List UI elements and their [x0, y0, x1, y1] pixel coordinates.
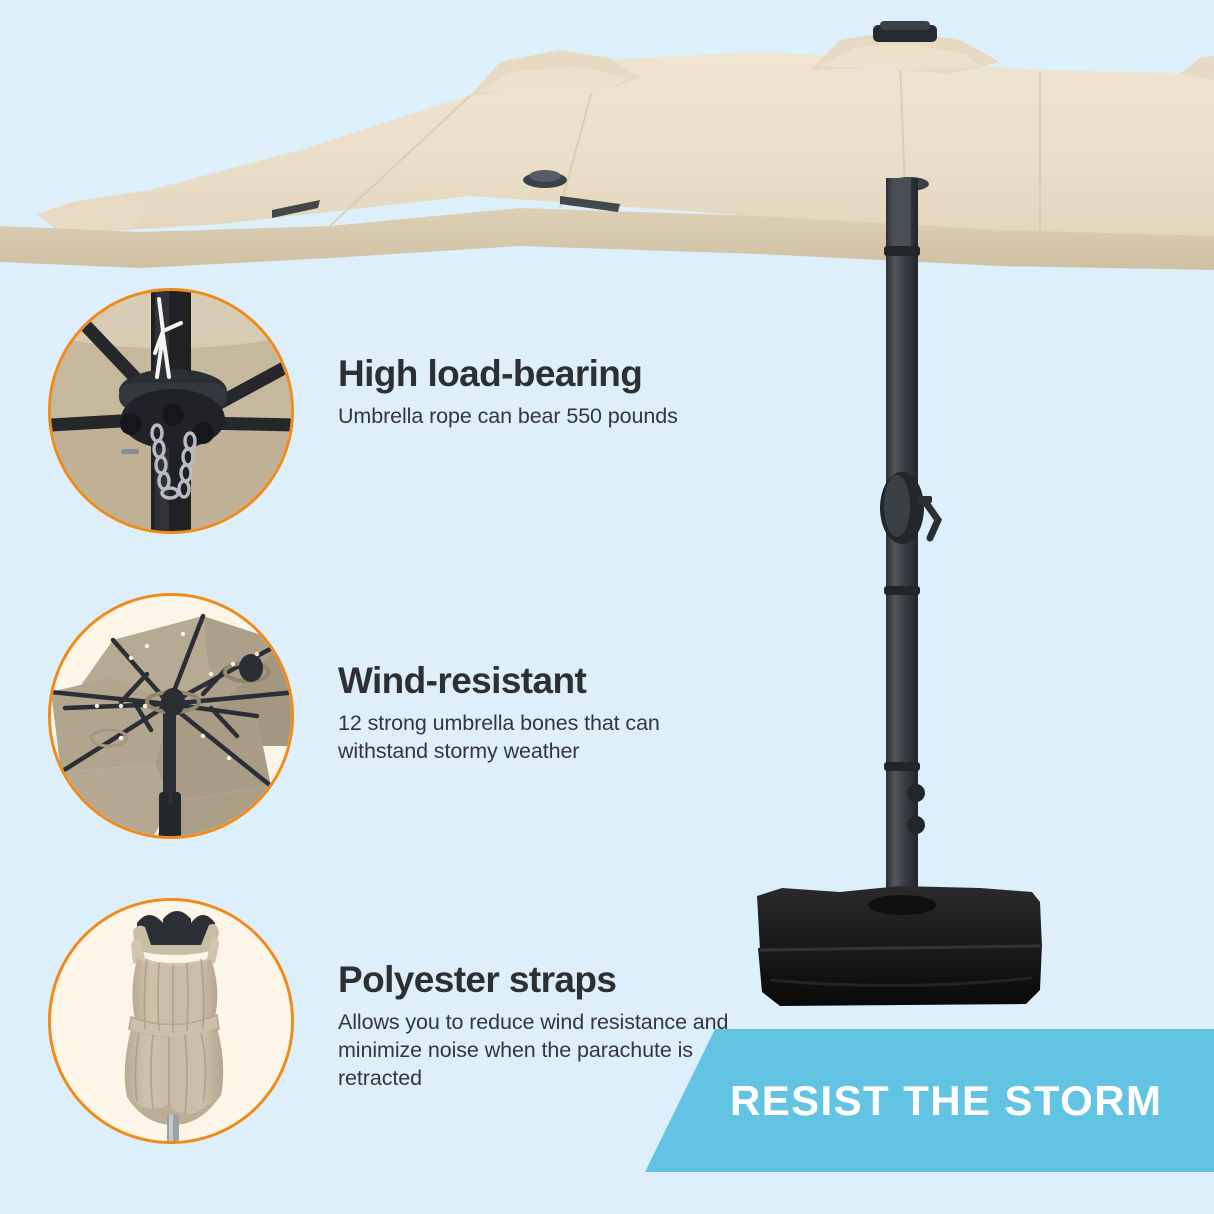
feature-title: Polyester straps — [338, 960, 738, 999]
feature-text-block: High load-bearing Umbrella rope can bear… — [338, 288, 678, 431]
feature-title: Wind-resistant — [338, 661, 738, 700]
umbrella-base — [757, 886, 1042, 1006]
folded-umbrella-straps-photo — [48, 898, 294, 1144]
feature-description: Umbrella rope can bear 550 pounds — [338, 403, 678, 431]
feature-thumbnail-wrap — [48, 593, 300, 845]
solar-light-panel — [873, 21, 937, 42]
umbrella-hub-chain-photo — [48, 288, 294, 534]
feature-thumbnail-wrap — [48, 288, 300, 540]
feature-wind-resistant: Wind-resistant 12 strong umbrella bones … — [48, 593, 738, 845]
feature-title: High load-bearing — [338, 354, 678, 393]
crank-handle — [880, 472, 938, 544]
infographic-poster: High load-bearing Umbrella rope can bear… — [0, 0, 1214, 1214]
umbrella-ribs-underside-photo — [48, 593, 294, 839]
feature-high-load-bearing: High load-bearing Umbrella rope can bear… — [48, 288, 678, 540]
banner-label: RESIST THE STORM — [730, 1029, 1214, 1172]
feature-description: 12 strong umbrella bones that can withst… — [338, 710, 738, 766]
feature-text-block: Wind-resistant 12 strong umbrella bones … — [338, 593, 738, 766]
feature-thumbnail-wrap — [48, 898, 300, 1150]
umbrella-pole — [880, 178, 938, 898]
resist-the-storm-banner: RESIST THE STORM — [640, 1029, 1214, 1172]
umbrella-canopy — [0, 21, 1214, 270]
feature-polyester-straps: Polyester straps Allows you to reduce wi… — [48, 898, 738, 1150]
